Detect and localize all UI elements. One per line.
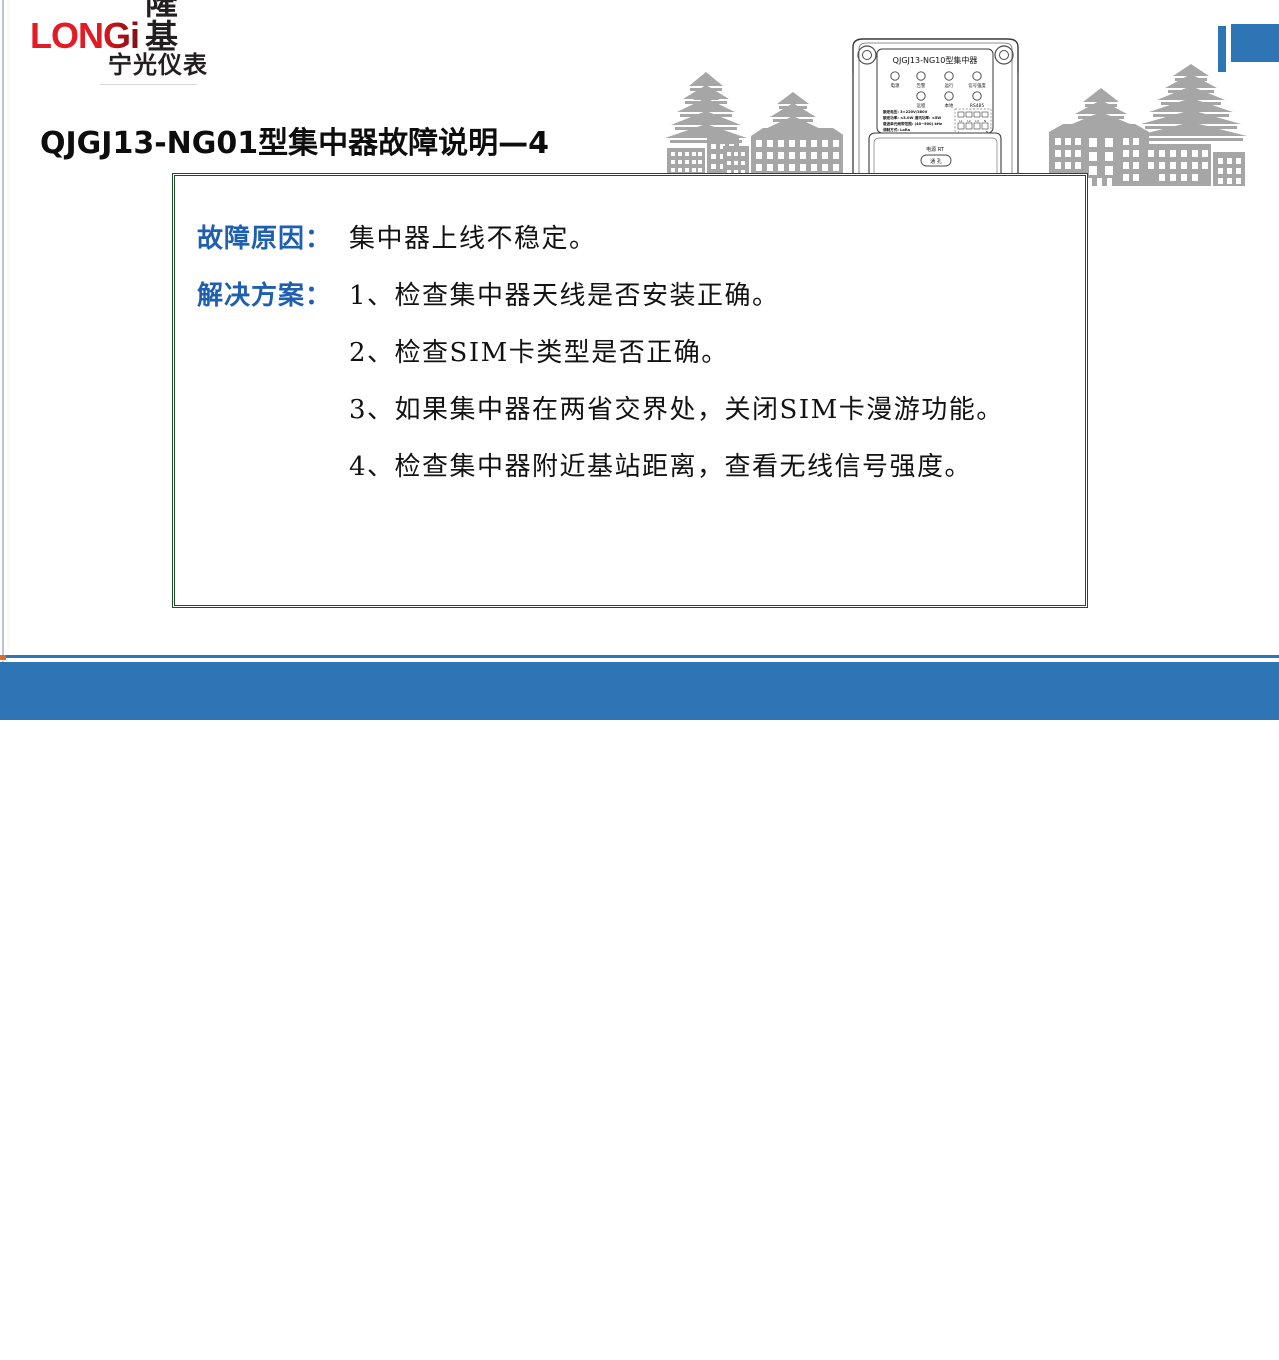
svg-text:通 孔: 通 孔 <box>930 158 942 165</box>
svg-text:N: N <box>984 119 986 123</box>
svg-text:电源 RT: 电源 RT <box>926 146 945 153</box>
content-body: 故障原因： 集中器上线不稳定。 解决方案： 1、检查集中器天线是否安装正确。 2… <box>175 176 1085 605</box>
solution-item-3: 3、如果集中器在两省交界处，关闭SIM卡漫游功能。 <box>349 389 1063 426</box>
solution-row-1: 解决方案： 1、检查集中器天线是否安装正确。 <box>197 275 1063 312</box>
svg-text:本地: 本地 <box>945 102 954 109</box>
solution-label: 解决方案： <box>197 275 349 312</box>
svg-text:L1: L1 <box>959 119 963 123</box>
svg-text:RS485: RS485 <box>970 103 984 109</box>
page-number: — 1 — <box>1201 1342 1261 1360</box>
solution-item-1: 1、检查集中器天线是否安装正确。 <box>349 275 780 312</box>
svg-text:额定功率: ≤3.0W 通讯功率: ≤5W: 额定功率: ≤3.0W 通讯功率: ≤5W <box>882 115 941 120</box>
page-title: QJGJ13-NG01型集中器故障说明—4 <box>40 118 549 162</box>
svg-text:载波单元频带范围: (40~500) kHz: 载波单元频带范围: (40~500) kHz <box>883 121 942 126</box>
logo-underline-rule <box>100 84 197 85</box>
slide-canvas: LONGi 隆基 宁光仪表 <box>0 0 1279 720</box>
content-frame: 故障原因： 集中器上线不稳定。 解决方案： 1、检查集中器天线是否安装正确。 2… <box>172 173 1088 608</box>
fault-cause-row: 故障原因： 集中器上线不稳定。 <box>197 218 1063 255</box>
svg-text:L3: L3 <box>975 119 979 123</box>
decor-flag-rect <box>1231 24 1279 62</box>
logo-latin-wordmark: LONGi <box>30 18 139 54</box>
svg-text:信号强度: 信号强度 <box>968 82 986 89</box>
logo-primary-row: LONGi 隆基 <box>30 12 210 54</box>
fault-cause-text: 集中器上线不稳定。 <box>349 218 597 255</box>
left-edge-rule <box>2 0 4 720</box>
svg-text:告警: 告警 <box>917 82 926 89</box>
fault-cause-label: 故障原因： <box>197 218 349 255</box>
svg-text:电源: 电源 <box>891 82 900 89</box>
svg-text:额定电压: 3×220V/380V: 额定电压: 3×220V/380V <box>882 109 928 114</box>
svg-text:QJGJ13-NG10型集中器: QJGJ13-NG10型集中器 <box>893 55 978 65</box>
solution-item-2: 2、检查SIM卡类型是否正确。 <box>349 332 1063 369</box>
logo-chinese-wordmark: 隆基 <box>145 0 210 54</box>
svg-text:L2: L2 <box>967 119 971 123</box>
footer-band: — 1 — <box>0 662 1279 720</box>
longi-logo: LONGi 隆基 宁光仪表 <box>30 12 210 90</box>
svg-text:调制方式: LoRa: 调制方式: LoRa <box>883 127 911 132</box>
logo-subbrand: 宁光仪表 <box>108 51 208 79</box>
skyline-right-graphic <box>1035 62 1279 190</box>
footer-separator-rule <box>0 660 1279 661</box>
footer-top-rule <box>0 655 1279 658</box>
solution-item-4: 4、检查集中器附近基站距离，查看无线信号强度。 <box>349 446 1063 483</box>
svg-text:远程: 远程 <box>917 102 926 109</box>
svg-text:运行: 运行 <box>945 82 954 89</box>
left-edge-rule-secondary <box>7 0 10 720</box>
